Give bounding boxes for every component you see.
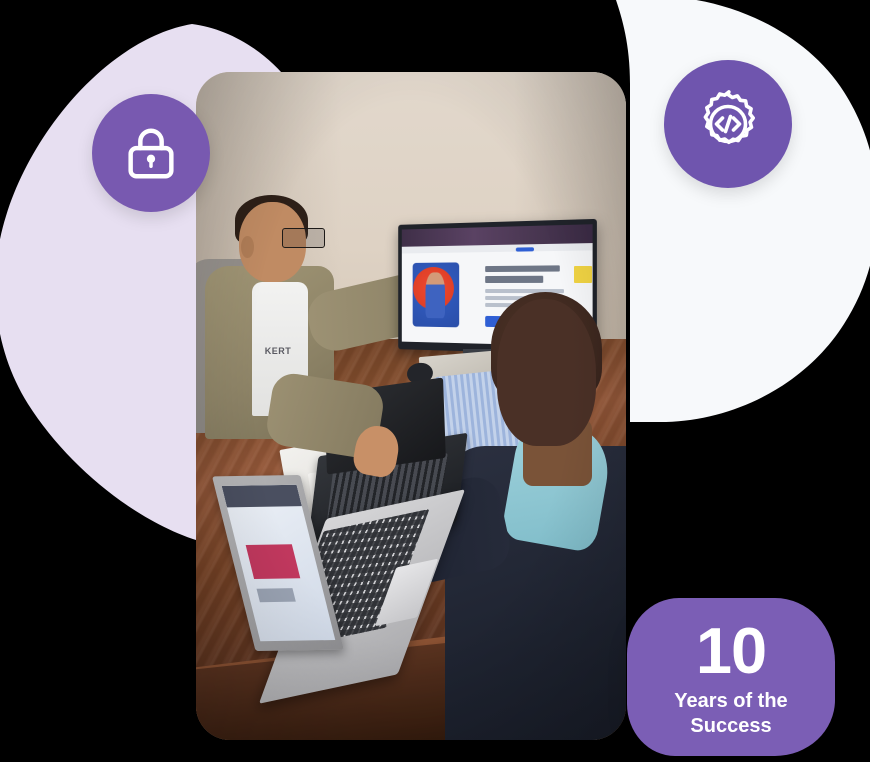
office-team-photo: KERT xyxy=(196,72,626,740)
scene-container: KERT xyxy=(0,0,870,762)
laptop-screen-textblock xyxy=(256,588,295,603)
lock-icon xyxy=(120,122,182,184)
years-label: Years of the Success xyxy=(674,689,787,738)
years-label-line1: Years of the xyxy=(674,689,787,713)
nav-cta-button xyxy=(516,247,534,252)
laptop-screen-banner xyxy=(245,544,300,579)
sticky-note xyxy=(574,266,591,283)
tshirt-logo: KERT xyxy=(265,346,299,373)
site-heading-line2 xyxy=(485,276,543,283)
site-heading-line1 xyxy=(485,266,559,273)
years-number: 10 xyxy=(696,620,766,682)
years-of-success-badge: 10 Years of the Success xyxy=(627,598,835,756)
eyeglasses xyxy=(282,228,325,247)
laptop-screen-topbar xyxy=(221,485,301,508)
team-photo-card: KERT xyxy=(196,72,626,740)
security-lock-badge xyxy=(92,94,210,212)
colleague-head xyxy=(497,299,596,446)
gear-code-icon xyxy=(692,88,764,160)
development-gear-badge xyxy=(664,60,792,188)
years-label-line2: Success xyxy=(674,714,787,738)
hero-illustration-person xyxy=(425,272,445,318)
